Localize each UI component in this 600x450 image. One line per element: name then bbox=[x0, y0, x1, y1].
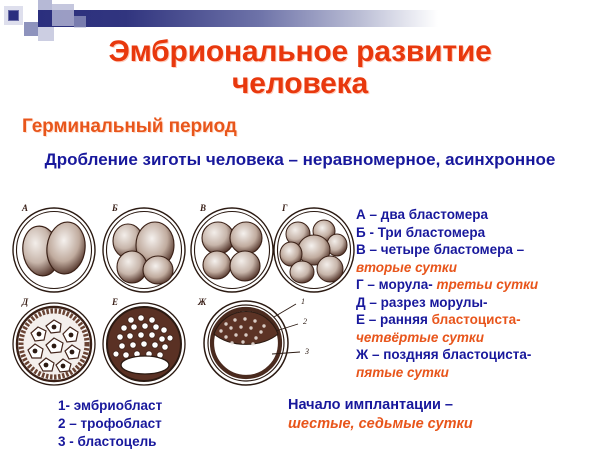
legend-row: Б - Три бластомера bbox=[356, 224, 600, 242]
slide-subtitle: Герминальный период bbox=[22, 116, 237, 138]
motif-square-core bbox=[9, 11, 18, 20]
panel-letter-d: Д bbox=[22, 297, 28, 307]
panel-letter-b: Б bbox=[112, 203, 118, 213]
drawing-three-blastomeres bbox=[100, 204, 188, 296]
leader-label-1: 1 bbox=[301, 297, 305, 306]
motif-square-right bbox=[74, 16, 86, 28]
motif-square-dark bbox=[8, 10, 19, 21]
legend-row: вторые сутки bbox=[356, 259, 600, 277]
legend-row: Е – ранняя бластоциста- bbox=[356, 311, 600, 329]
drawing-early-blastocyst bbox=[100, 298, 188, 390]
legend-row: Д – разрез морулы- bbox=[356, 294, 600, 312]
embryo-figure: А Б bbox=[4, 200, 350, 396]
panel-zh-late-blastocyst: Ж 1 2 3 bbox=[188, 296, 348, 395]
motif-square-upper bbox=[52, 4, 74, 26]
panel-v-four-blastomeres: В bbox=[188, 204, 276, 301]
drawing-two-blastomeres bbox=[10, 204, 98, 296]
slide-statement: Дробление зиготы человека – неравномерно… bbox=[8, 150, 592, 170]
panel-d-morula-section: Д bbox=[10, 298, 98, 395]
drawing-morula-section bbox=[10, 298, 98, 390]
legend-right: А – два бластомера Б - Три бластомера В … bbox=[356, 206, 600, 381]
panel-a-two-blastomeres: А bbox=[10, 204, 98, 301]
panel-g-morula: Г bbox=[270, 204, 358, 301]
leader-label-3: 3 bbox=[304, 347, 309, 356]
panel-letter-g: Г bbox=[282, 203, 287, 213]
legend-row: А – два бластомера bbox=[356, 206, 600, 224]
leader-label-2: 2 bbox=[303, 317, 307, 326]
list-item: 2 – трофобласт bbox=[58, 415, 162, 433]
legend-row: В – четыре бластомера – bbox=[356, 241, 600, 259]
list-item: 1- эмбриобласт bbox=[58, 397, 162, 415]
motif-square-top bbox=[38, 0, 52, 10]
panel-letter-a: А bbox=[22, 203, 28, 213]
panel-letter-e: Е bbox=[112, 297, 118, 307]
implantation-line-1: Начало имплантации – bbox=[288, 396, 473, 415]
gradient-bar bbox=[38, 10, 438, 27]
corner-decoration bbox=[0, 0, 600, 40]
legend-bottom-left: 1- эмбриобласт 2 – трофобласт 3 - бласто… bbox=[58, 397, 162, 450]
legend-row: пятые сутки bbox=[356, 364, 600, 382]
panel-b-three-blastomeres: Б bbox=[100, 204, 188, 301]
panel-e-early-blastocyst: Е bbox=[100, 298, 188, 395]
motif-square-mid bbox=[24, 22, 38, 36]
list-item: 3 - бластоцель bbox=[58, 433, 162, 450]
drawing-four-blastomeres bbox=[188, 204, 276, 296]
slide-title: Эмбриональное развитие человека bbox=[40, 36, 560, 100]
drawing-late-blastocyst: 1 2 3 bbox=[188, 296, 348, 390]
panel-letter-zh: Ж bbox=[198, 297, 206, 307]
drawing-morula bbox=[270, 204, 358, 296]
implantation-note: Начало имплантации – шестые, седьмые сут… bbox=[288, 396, 473, 434]
legend-row: четвёртые сутки bbox=[356, 329, 600, 347]
panel-letter-v: В bbox=[200, 203, 206, 213]
legend-row: Ж – поздняя бластоциста- bbox=[356, 346, 600, 364]
implantation-line-2: шестые, седьмые сутки bbox=[288, 415, 473, 434]
legend-row: Г – морула- третьи сутки bbox=[356, 276, 600, 294]
motif-square-outline bbox=[4, 6, 23, 25]
